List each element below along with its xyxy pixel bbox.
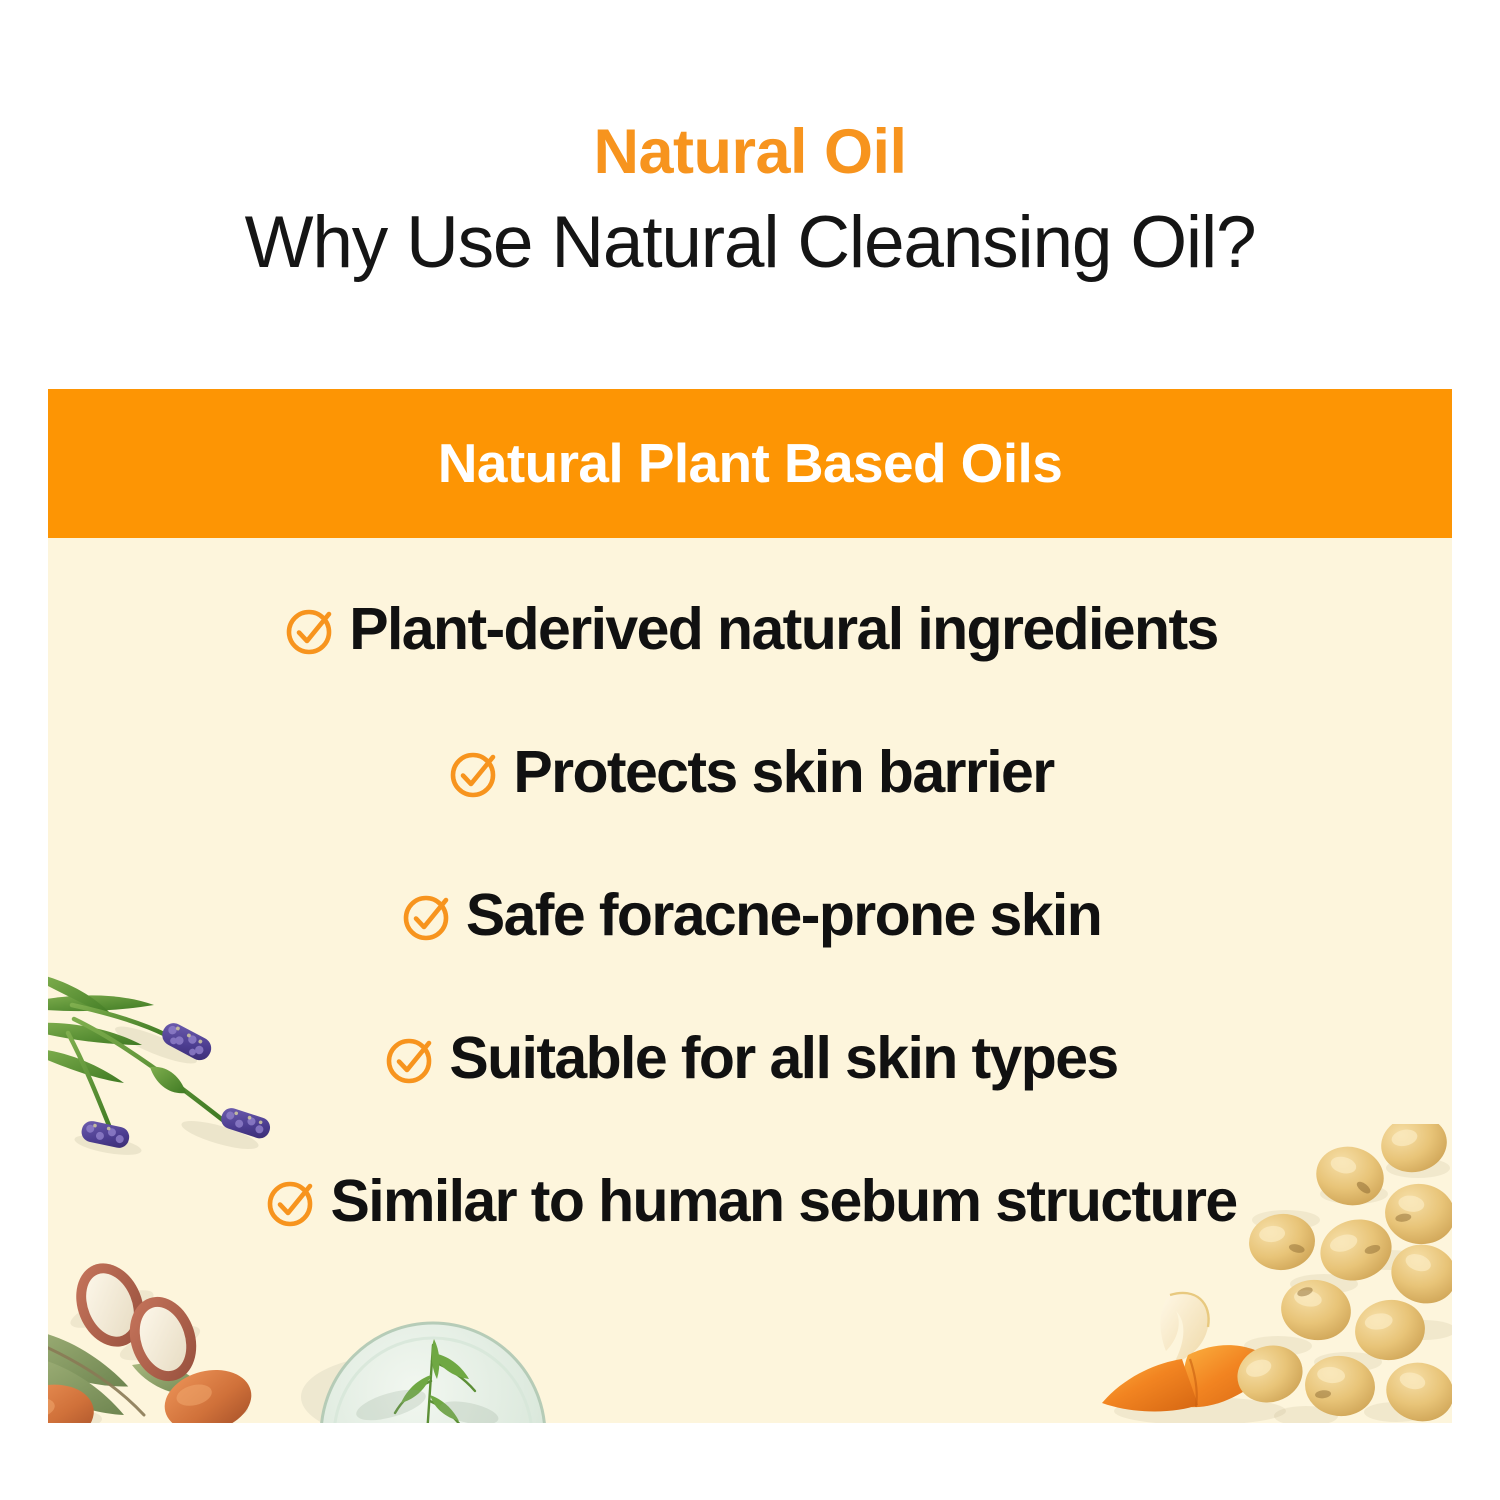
benefit-label: Safe foracne-prone skin [466,886,1101,945]
eyebrow-label: Natural Oil [0,118,1500,186]
infographic-page: Natural Oil Why Use Natural Cleansing Oi… [0,0,1500,1500]
list-item: Similar to human sebum structure [48,1172,1452,1231]
benefit-label: Similar to human sebum structure [330,1172,1236,1231]
list-item: Safe foracne-prone skin [48,886,1452,945]
page-title: Why Use Natural Cleansing Oil? [0,200,1500,286]
page-heading-block: Natural Oil Why Use Natural Cleansing Oi… [0,118,1500,286]
card-banner-title: Natural Plant Based Oils [438,436,1062,491]
benefits-card: Natural Plant Based Oils [48,389,1452,1423]
check-circle-icon [446,744,504,802]
check-circle-icon [263,1173,321,1231]
check-circle-icon [399,887,457,945]
card-banner: Natural Plant Based Oils [48,389,1452,538]
benefit-label: Suitable for all skin types [449,1029,1117,1088]
check-circle-icon [282,601,340,659]
list-item: Suitable for all skin types [48,1029,1452,1088]
benefit-label: Protects skin barrier [513,743,1053,802]
benefit-label: Plant-derived natural ingredients [349,600,1217,659]
benefit-list: Plant-derived natural ingredients Protec… [48,538,1452,1423]
list-item: Plant-derived natural ingredients [48,600,1452,659]
list-item: Protects skin barrier [48,743,1452,802]
check-circle-icon [382,1030,440,1088]
